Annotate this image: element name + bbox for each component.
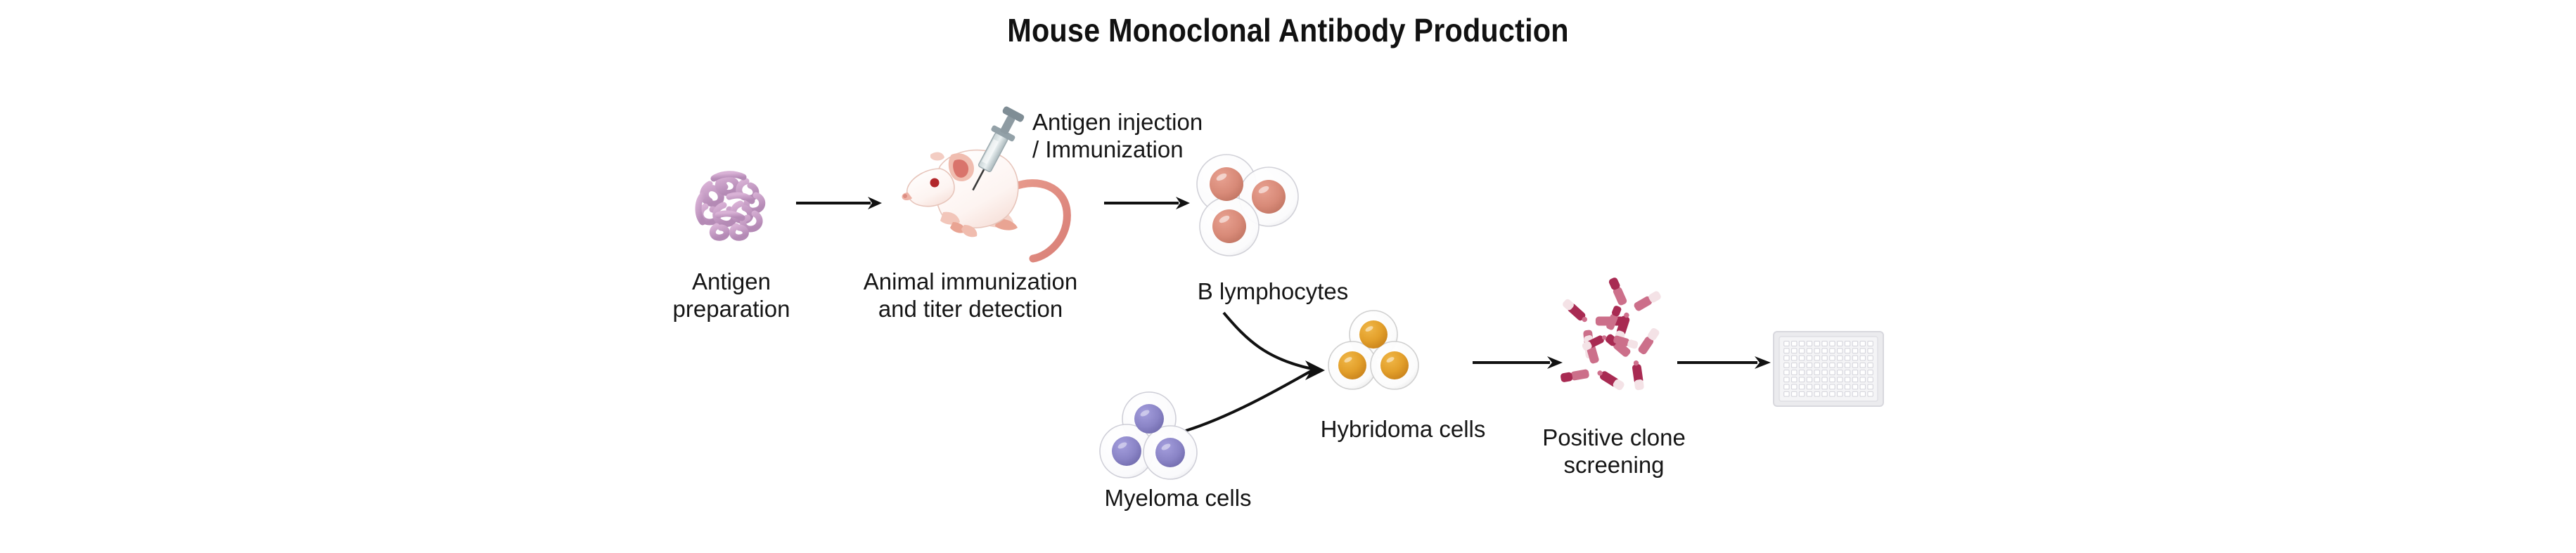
myeloma-cells-label: Myeloma cells [1069, 485, 1287, 512]
arrow-blymph-to-hybridoma [1224, 313, 1312, 369]
plate-well [1792, 349, 1797, 353]
plate-well [1814, 377, 1819, 382]
plate-well [1792, 391, 1797, 396]
plate-well [1822, 356, 1827, 360]
plate-well [1838, 377, 1843, 382]
plate-well [1792, 370, 1797, 375]
plate-well [1792, 363, 1797, 367]
plate-well [1784, 384, 1789, 389]
plate-well [1814, 341, 1819, 346]
plate-well [1784, 391, 1789, 396]
plate-well [1830, 384, 1835, 389]
arrow-myeloma-to-hybridoma [1186, 370, 1312, 431]
plate-well [1868, 384, 1873, 389]
positive-clone-screening-figure [1554, 285, 1681, 404]
animal-immunization-label: Animal immunization and titer detection [844, 268, 1097, 323]
arrow-mouse-to-blymph [1103, 191, 1194, 215]
plate-well [1838, 349, 1843, 353]
plate-well [1830, 377, 1835, 382]
plate-well [1838, 363, 1843, 367]
plate-well [1822, 384, 1827, 389]
plate-well [1838, 356, 1843, 360]
hybridoma-cells-label: Hybridoma cells [1297, 416, 1508, 443]
plate-well [1860, 349, 1865, 353]
plate-well [1830, 391, 1835, 396]
plate-well [1852, 377, 1857, 382]
plate-well [1807, 349, 1812, 353]
diagram-canvas: Mouse Monoclonal Antibody Production [0, 0, 2576, 553]
plate-well [1830, 363, 1835, 367]
hybridoma-cells-figure [1326, 309, 1424, 393]
plate-well [1807, 356, 1812, 360]
plate-well [1784, 356, 1789, 360]
plate-well [1799, 370, 1804, 375]
plate-well [1860, 356, 1865, 360]
arrow-antigen-to-mouse [795, 191, 886, 215]
plate-well [1868, 356, 1873, 360]
plate-well [1838, 341, 1843, 346]
plate-well [1868, 370, 1873, 375]
plate-well [1860, 370, 1865, 375]
positive-clone-screening-label: Positive clone screening [1512, 424, 1716, 479]
page-title: Mouse Monoclonal Antibody Production [129, 11, 2447, 49]
plate-well [1822, 377, 1827, 382]
plate-well [1799, 391, 1804, 396]
plate-well [1838, 384, 1843, 389]
plate-well [1838, 370, 1843, 375]
plate-well [1830, 356, 1835, 360]
plate-well [1822, 341, 1827, 346]
plate-well [1799, 356, 1804, 360]
plate-well [1860, 377, 1865, 382]
microplate-figure [1772, 329, 1885, 410]
plate-well [1784, 349, 1789, 353]
plate-well [1852, 341, 1857, 346]
tangled-protein-antigen-icon [686, 163, 777, 247]
plate-well [1799, 341, 1804, 346]
plate-well [1799, 384, 1804, 389]
plate-well [1822, 391, 1827, 396]
plate-well [1814, 391, 1819, 396]
plate-well [1807, 391, 1812, 396]
plate-well [1845, 356, 1850, 360]
plate-well [1814, 384, 1819, 389]
b-lymphocyte-cells-icon [1188, 153, 1308, 259]
plate-well [1814, 363, 1819, 367]
plate-well [1868, 341, 1873, 346]
plate-well [1792, 377, 1797, 382]
mouse-eye [930, 178, 940, 188]
plate-well [1860, 341, 1865, 346]
arrow-antibodies-to-plate [1676, 351, 1778, 375]
fusion-arrowhead [1305, 360, 1325, 380]
plate-well [1799, 349, 1804, 353]
plate-well [1830, 341, 1835, 346]
plate-well [1807, 370, 1812, 375]
microwell-plate-icon [1772, 329, 1885, 410]
plate-well [1784, 377, 1789, 382]
hybridoma-cells-icon [1326, 309, 1424, 393]
myeloma-cells-figure [1098, 391, 1204, 482]
plate-well [1822, 370, 1827, 375]
plate-well [1799, 377, 1804, 382]
plate-well [1868, 377, 1873, 382]
plate-well [1784, 370, 1789, 375]
plate-well [1852, 384, 1857, 389]
myeloma-cells-icon [1098, 391, 1204, 482]
plate-well [1868, 349, 1873, 353]
plate-well [1845, 341, 1850, 346]
plate-well [1807, 341, 1812, 346]
plate-well [1852, 391, 1857, 396]
plate-well [1845, 377, 1850, 382]
plate-well [1868, 363, 1873, 367]
plate-well [1807, 384, 1812, 389]
plate-well [1845, 349, 1850, 353]
plate-well [1868, 391, 1873, 396]
plate-well [1830, 349, 1835, 353]
plate-well [1784, 341, 1789, 346]
plate-well [1838, 391, 1843, 396]
plate-well [1784, 363, 1789, 367]
antibody-cluster-icon [1554, 285, 1681, 404]
plate-well [1792, 341, 1797, 346]
plate-well [1792, 384, 1797, 389]
plate-well [1822, 349, 1827, 353]
plate-well [1860, 363, 1865, 367]
plate-well [1814, 349, 1819, 353]
plate-well [1799, 363, 1804, 367]
plate-well [1860, 384, 1865, 389]
plate-well [1830, 370, 1835, 375]
plate-well [1845, 391, 1850, 396]
plate-well [1814, 356, 1819, 360]
plate-well [1845, 363, 1850, 367]
plate-well [1860, 391, 1865, 396]
plate-well [1807, 363, 1812, 367]
plate-well [1814, 370, 1819, 375]
mouse-tail [1013, 183, 1067, 259]
plate-well [1852, 370, 1857, 375]
plate-well [1845, 370, 1850, 375]
plate-well [1822, 363, 1827, 367]
plate-well [1852, 349, 1857, 353]
plate-well [1845, 384, 1850, 389]
plate-well [1792, 356, 1797, 360]
b-lymphocytes-figure [1188, 153, 1308, 259]
plate-well [1807, 377, 1812, 382]
plate-well [1852, 356, 1857, 360]
antigen-preparation-figure [686, 163, 777, 247]
plate-well [1852, 363, 1857, 367]
antigen-preparation-label: Antigen preparation [643, 268, 819, 323]
